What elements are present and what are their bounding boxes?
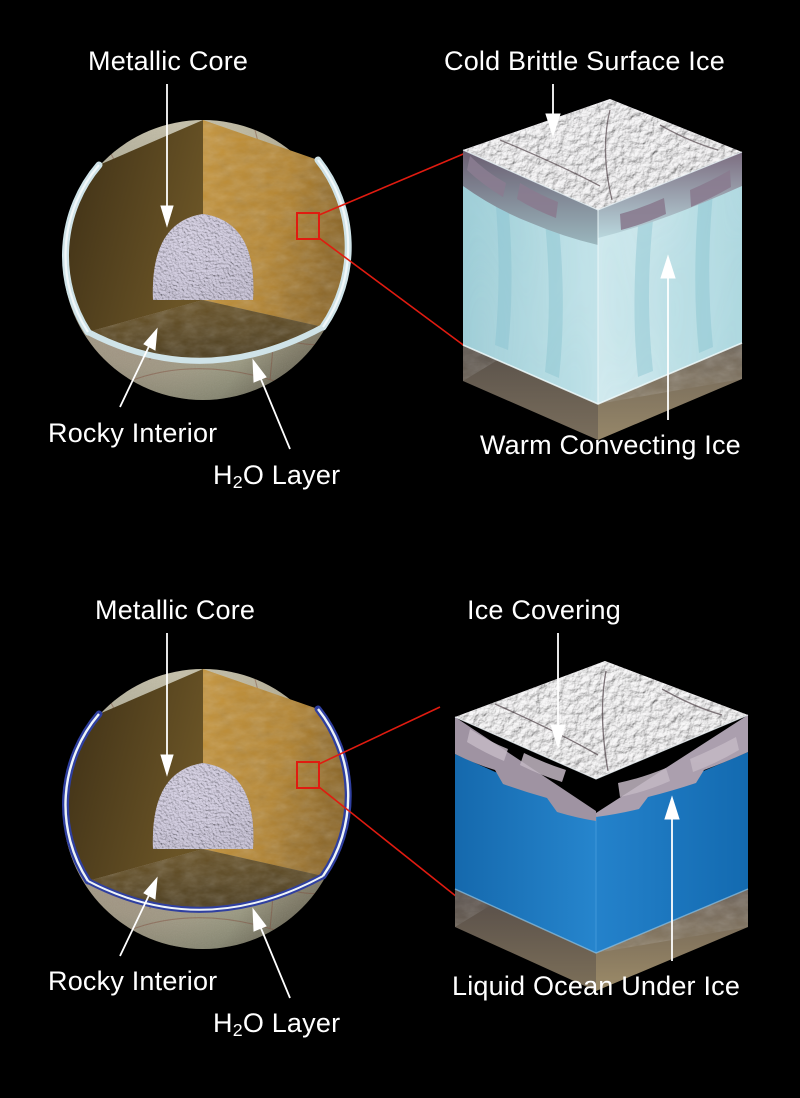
label-warm-convecting-ice: Warm Convecting Ice <box>480 432 741 459</box>
label-rocky-interior: Rocky Interior <box>48 420 217 447</box>
label-cold-brittle-surface-ice: Cold Brittle Surface Ice <box>444 48 725 75</box>
ocean-block <box>455 661 748 991</box>
europa-interior-figure: Metallic Core Rocky Interior H2O Layer C… <box>0 0 800 1098</box>
label-rocky-interior: Rocky Interior <box>48 968 217 995</box>
europa-cutaway-sphere-bottom <box>63 669 348 949</box>
panel-bottom-graphics <box>0 549 800 1098</box>
panel-thick-ice-model: Metallic Core Rocky Interior H2O Layer C… <box>0 0 800 549</box>
label-ice-covering: Ice Covering <box>467 597 621 624</box>
label-liquid-ocean-under-ice: Liquid Ocean Under Ice <box>452 973 740 1000</box>
panel-liquid-ocean-model: Metallic Core Rocky Interior H2O Layer I… <box>0 549 800 1098</box>
panel-top-graphics <box>0 0 800 549</box>
label-metallic-core: Metallic Core <box>95 597 255 624</box>
ice-block-convecting <box>463 99 742 440</box>
europa-cutaway-sphere-top <box>63 120 348 400</box>
label-h2o-layer: H2O Layer <box>213 1010 340 1040</box>
label-metallic-core: Metallic Core <box>88 48 248 75</box>
label-h2o-layer: H2O Layer <box>213 462 340 492</box>
